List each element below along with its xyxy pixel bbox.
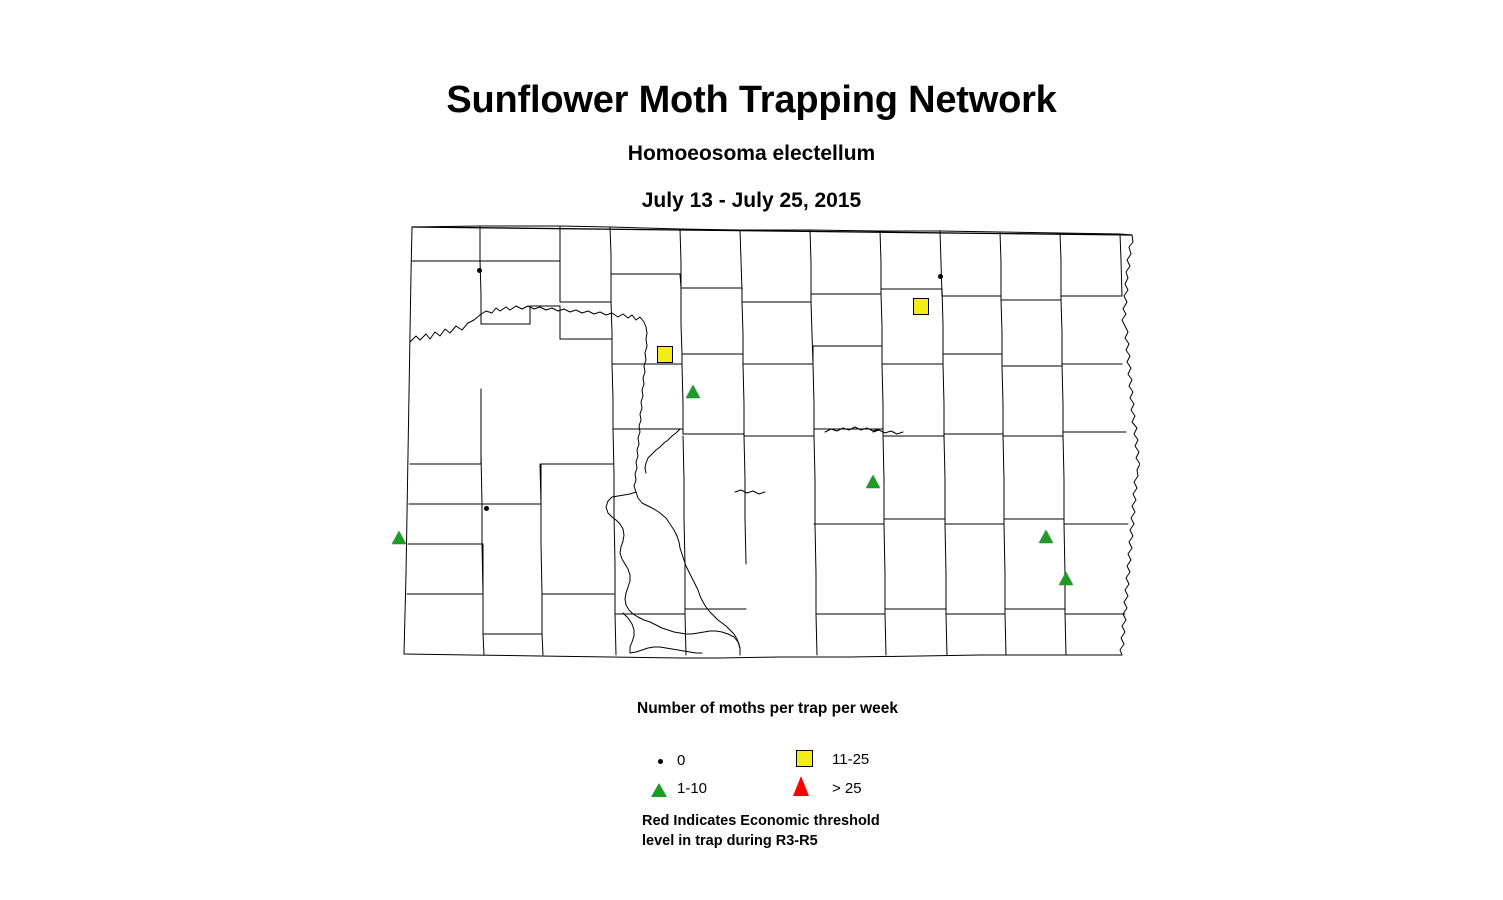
- legend-label-2: 11-25: [832, 751, 869, 768]
- legend-note-line-1: Red Indicates Economic threshold: [642, 812, 880, 832]
- legend-note-line-2: level in trap during R3-R5: [642, 832, 880, 852]
- north-dakota-county-map: [380, 214, 1140, 674]
- trap-site-ne-high: [913, 298, 929, 315]
- legend-green-triangle-icon: [651, 783, 667, 797]
- trap-site-central-low: [866, 475, 880, 488]
- legend-heading: Number of moths per trap per week: [637, 700, 898, 718]
- trap-site-west-low: [392, 531, 406, 544]
- trap-site-sw-zero: [484, 506, 489, 511]
- legend-red-triangle-icon: [793, 776, 809, 796]
- legend: Number of moths per trap per week 0 1-10…: [637, 700, 967, 860]
- date-range-subtitle: July 13 - July 25, 2015: [0, 189, 1503, 212]
- trap-site-se-low: [1039, 530, 1053, 543]
- trap-site-ne-zero: [938, 274, 943, 279]
- page-title: Sunflower Moth Trapping Network: [0, 80, 1503, 122]
- trap-site-nw-zero: [477, 268, 482, 273]
- trap-site-nwc-high: [657, 346, 673, 363]
- trap-site-nwc-low: [686, 385, 700, 398]
- species-subtitle: Homoeosoma electellum: [0, 142, 1503, 165]
- legend-dot-icon: [658, 759, 663, 764]
- legend-yellow-square-icon: [796, 750, 813, 767]
- legend-label-1: 1-10: [677, 780, 707, 797]
- legend-label-3: > 25: [832, 780, 862, 797]
- legend-label-0: 0: [677, 752, 685, 769]
- map-page: Sunflower Moth Trapping Network Homoeoso…: [0, 0, 1503, 900]
- trap-site-se-south-low: [1059, 572, 1073, 585]
- trap-marker-layer: [380, 214, 1140, 674]
- legend-note: Red Indicates Economic threshold level i…: [642, 812, 880, 851]
